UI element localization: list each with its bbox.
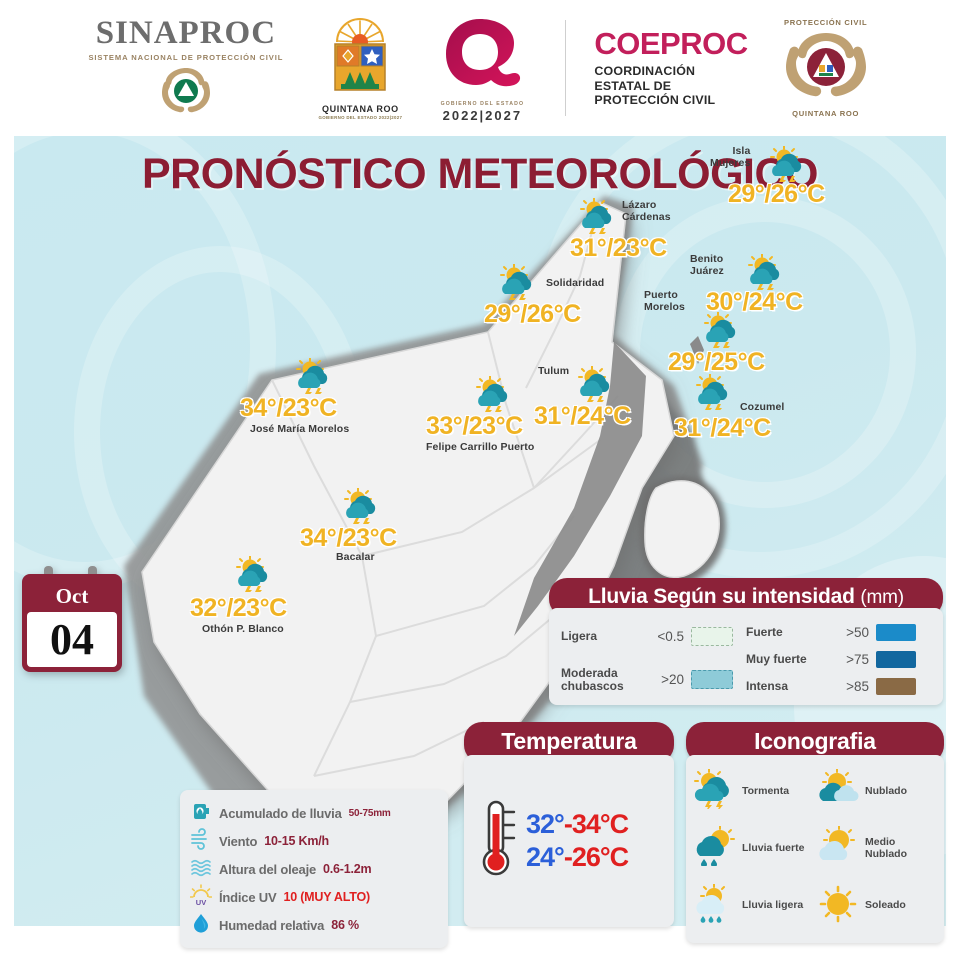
condition-value: 50-75mm: [349, 808, 391, 819]
pcqr-top-label: PROTECCIÓN CIVIL: [784, 18, 867, 27]
storm-icon: [472, 376, 516, 417]
storm-icon: [576, 198, 620, 239]
storm-icon: [340, 488, 384, 529]
condition-value: 10 (MUY ALTO): [283, 890, 370, 904]
gobierno-years: 2022|2027: [443, 108, 522, 123]
iconography-item: Medio Nublado: [815, 826, 938, 871]
condition-label: Viento: [219, 834, 257, 849]
header-logos-bar: SINAPROC SISTEMA NACIONAL DE PROTECCIÓN …: [0, 0, 960, 136]
storm-icon: [692, 769, 738, 814]
temperature-min-row: 24°-26°C: [526, 843, 628, 872]
temperature-panel: Temperatura 32°-34°C: [464, 722, 674, 927]
calendar-month: Oct: [22, 584, 122, 609]
condition-row: Acumulado de lluvia 50-75mm: [190, 799, 438, 827]
uv-index-icon: UV: [190, 884, 212, 911]
sinaproc-logo: SINAPROC SISTEMA NACIONAL DE PROTECCIÓN …: [78, 17, 293, 119]
heavy-rain-icon: [692, 826, 738, 871]
temperature-min-high: -26°C: [564, 842, 628, 872]
iconography-item: Lluvia fuerte: [692, 826, 815, 871]
rain-legend-label: Fuerte: [746, 626, 824, 639]
city-name: Benito Juárez: [690, 254, 724, 278]
city-temperature: 29°/26°C: [728, 180, 825, 209]
waves-icon: [190, 856, 212, 883]
rain-legend-swatch: [876, 624, 916, 641]
iconography-panel: Iconografia Tormenta: [686, 722, 944, 943]
city-name: Isla Mujeres: [710, 146, 750, 170]
coeproc-acronym: COEPROC: [594, 28, 747, 59]
rain-legend-swatch: [691, 670, 733, 689]
rain-legend-value: >20: [646, 672, 684, 687]
rain-legend-label: Muy fuerte: [746, 653, 824, 666]
condition-row: Humedad relativa 86 %: [190, 911, 438, 939]
rain-legend-right-column: Fuerte >50 Muy fuerte >75 Intensa >85: [746, 624, 931, 695]
city-name: Puerto Morelos: [644, 290, 685, 314]
rain-legend-value: >75: [831, 652, 869, 667]
humidity-drop-icon: [190, 912, 212, 939]
city-name: Lázaro Cárdenas: [622, 200, 671, 224]
coeproc-line2: ESTATAL DE: [594, 79, 715, 94]
iconography-label: Tormenta: [742, 786, 789, 798]
wind-icon: [190, 828, 212, 855]
storm-icon: [700, 312, 744, 353]
cloudy-icon: [815, 769, 861, 814]
sunny-icon: [815, 884, 861, 929]
iconography-label: Soleado: [865, 900, 906, 912]
city-name: José María Morelos: [250, 424, 349, 436]
coeproc-line1: COORDINACIÓN: [594, 64, 715, 79]
sinaproc-seal-icon: [160, 66, 212, 119]
rain-legend-value: >50: [831, 625, 869, 640]
rain-legend-item: Ligera <0.5: [561, 627, 746, 646]
rain-legend-item: Moderada chubascos >20: [561, 667, 746, 693]
condition-row: Altura del oleaje 0.6-1.2m: [190, 855, 438, 883]
pcqr-bottom-label: QUINTANA ROO: [792, 109, 859, 118]
iconography-label: Medio Nublado: [865, 837, 907, 861]
city-name: Cozumel: [740, 402, 784, 414]
sinaproc-subtitle: SISTEMA NACIONAL DE PROTECCIÓN CIVIL: [88, 53, 283, 62]
coeproc-logo: COEPROC COORDINACIÓN ESTATAL DE PROTECCI…: [594, 28, 747, 108]
sinaproc-wordmark: SINAPROC: [96, 17, 276, 50]
storm-icon: [692, 374, 736, 415]
city-temperature: 34°/23°C: [240, 394, 337, 423]
temperature-max-high: -34°C: [564, 809, 628, 839]
rain-legend-value: >85: [831, 679, 869, 694]
storm-icon: [574, 366, 618, 407]
iconography-item: Soleado: [815, 884, 938, 929]
storm-icon: [292, 358, 336, 399]
condition-label: Humedad relativa: [219, 918, 324, 933]
condition-row: UV Índice UV 10 (MUY ALTO): [190, 883, 438, 911]
temperature-max-low: 32°: [526, 809, 564, 839]
iconography-item: Nublado: [815, 769, 938, 814]
rain-legend-value: <0.5: [646, 629, 684, 644]
light-rain-icon: [692, 884, 738, 929]
rain-legend-item: Intensa >85: [746, 678, 931, 695]
condition-value: 10-15 Km/h: [264, 834, 329, 848]
conditions-panel: Acumulado de lluvia 50-75mm Viento 10-15…: [180, 790, 448, 948]
coeproc-line3: PROTECCIÓN CIVIL: [594, 93, 715, 108]
rain-intensity-legend: Lluvia Según su intensidad (mm) Ligera <…: [549, 578, 943, 705]
rain-legend-label: Moderada chubascos: [561, 667, 639, 693]
temperature-min-low: 24°: [526, 842, 564, 872]
city-temperature: 34°/23°C: [300, 524, 397, 553]
thermometer-icon: [478, 796, 520, 887]
city-name: Bacalar: [336, 552, 375, 564]
city-name: Tulum: [538, 366, 569, 378]
iconography-label: Lluvia ligera: [742, 900, 803, 912]
city-temperature: 29°/26°C: [484, 300, 581, 329]
city-name: Othón P. Blanco: [202, 624, 284, 636]
partly-cloudy-icon: [815, 826, 861, 871]
rain-legend-swatch: [876, 678, 916, 695]
svg-text:UV: UV: [196, 898, 206, 906]
proteccion-civil-qroo-seal-icon: PROTECCIÓN CIVIL QUINTANA ROO: [770, 18, 882, 118]
city-temperature: 31°/24°C: [534, 402, 631, 431]
rain-legend-unit: (mm): [860, 587, 904, 608]
rain-legend-item: Muy fuerte >75: [746, 651, 931, 668]
rain-legend-label: Intensa: [746, 680, 824, 693]
rain-legend-label: Ligera: [561, 630, 639, 643]
iconography-label: Nublado: [865, 786, 907, 798]
calendar-day: 04: [27, 612, 117, 667]
rain-legend-item: Fuerte >50: [746, 624, 931, 641]
rain-legend-left-column: Ligera <0.5 Moderada chubascos >20: [561, 624, 746, 695]
city-name: Felipe Carrillo Puerto: [426, 442, 534, 454]
condition-value: 86 %: [331, 918, 359, 932]
header-divider: [565, 20, 566, 116]
condition-value: 0.6-1.2m: [323, 862, 371, 876]
q-gobierno-logo-icon: GOBIERNO DEL ESTADO 2022|2027: [427, 13, 537, 123]
iconography-item: Lluvia ligera: [692, 884, 815, 929]
quintana-roo-coat-of-arms-icon: QUINTANA ROO GOBIERNO DEL ESTADO 2022|20…: [315, 16, 405, 120]
condition-label: Índice UV: [219, 890, 276, 905]
rain-gauge-icon: [190, 800, 212, 827]
city-temperature: 32°/23°C: [190, 594, 287, 623]
iconography-item: Tormenta: [692, 769, 815, 814]
escudo-subtitle: GOBIERNO DEL ESTADO 2022|2027: [319, 115, 403, 120]
condition-row: Viento 10-15 Km/h: [190, 827, 438, 855]
condition-label: Altura del oleaje: [219, 862, 316, 877]
storm-icon: [232, 556, 276, 597]
condition-label: Acumulado de lluvia: [219, 806, 342, 821]
city-temperature: 29°/25°C: [668, 348, 765, 377]
storm-icon: [496, 264, 540, 305]
city-temperature: 31°/24°C: [674, 414, 771, 443]
rain-legend-swatch: [876, 651, 916, 668]
city-temperature: 33°/23°C: [426, 412, 523, 441]
escudo-name: QUINTANA ROO: [322, 104, 399, 114]
city-name: Solidaridad: [546, 278, 604, 290]
date-badge: Oct 04: [22, 566, 122, 672]
rain-legend-swatch: [691, 627, 733, 646]
gobierno-label: GOBIERNO DEL ESTADO: [441, 101, 525, 107]
iconography-label: Lluvia fuerte: [742, 843, 804, 855]
temperature-max-row: 32°-34°C: [526, 810, 628, 839]
city-temperature: 31°/23°C: [570, 234, 667, 263]
